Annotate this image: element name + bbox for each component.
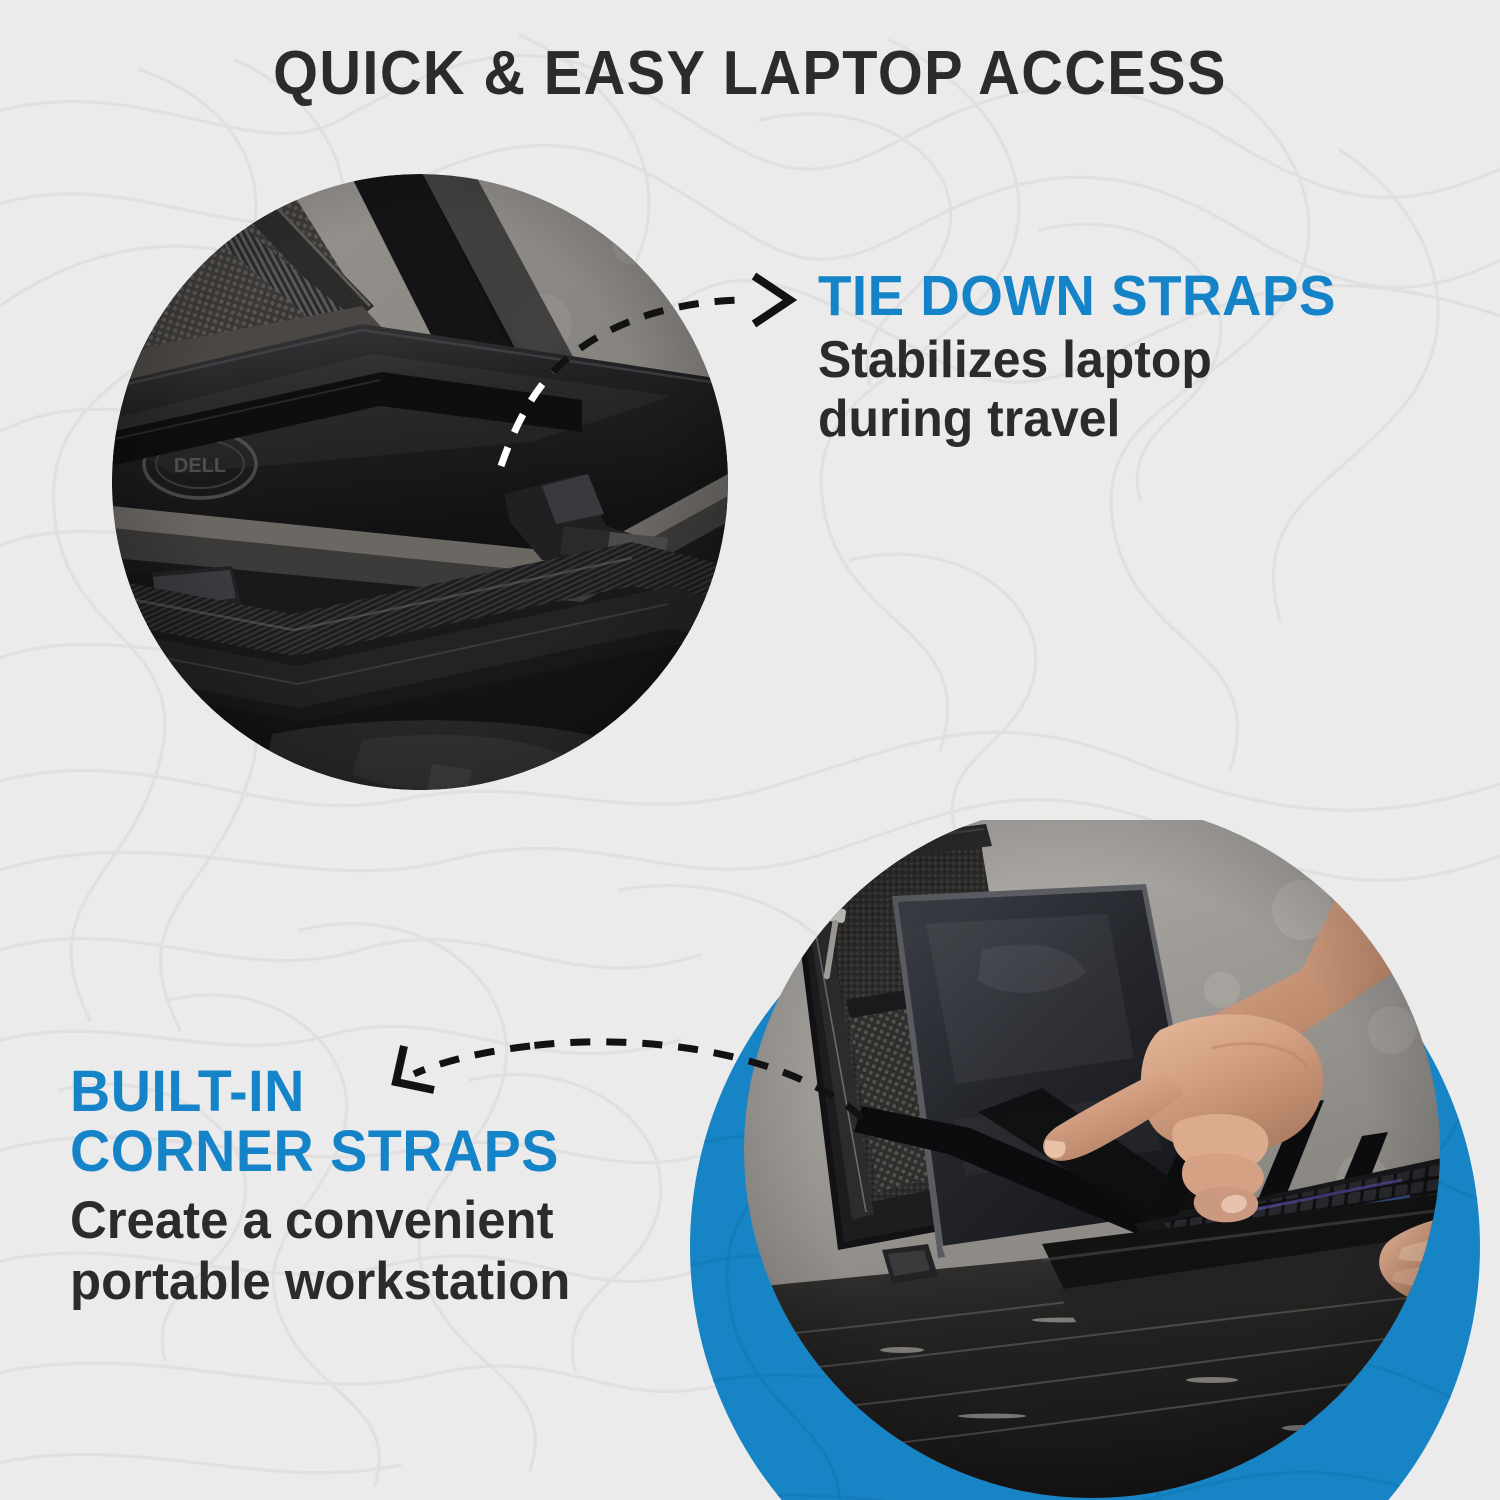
callout-title-built-in-corner-straps: BUILT-IN CORNER STRAPS: [70, 1062, 704, 1181]
callout-body-built-in-corner-straps: Create a convenient portable workstation: [70, 1191, 704, 1312]
callout-title-tie-down-straps: TIE DOWN STRAPS: [818, 268, 1432, 325]
callout-body-tie-down-straps: Stabilizes laptop during travel: [818, 331, 1432, 450]
photo-corner-straps-detail: [742, 820, 1442, 1500]
callout-built-in-corner-straps: BUILT-IN CORNER STRAPS Create a convenie…: [70, 1062, 730, 1312]
callout-tie-down-straps: TIE DOWN STRAPS Stabilizes laptop during…: [818, 268, 1458, 450]
infographic-canvas: QUICK & EASY LAPTOP ACCESS: [0, 0, 1500, 1500]
photo-tie-down-detail: DELL: [112, 174, 728, 790]
page-title: QUICK & EASY LAPTOP ACCESS: [53, 38, 1448, 109]
